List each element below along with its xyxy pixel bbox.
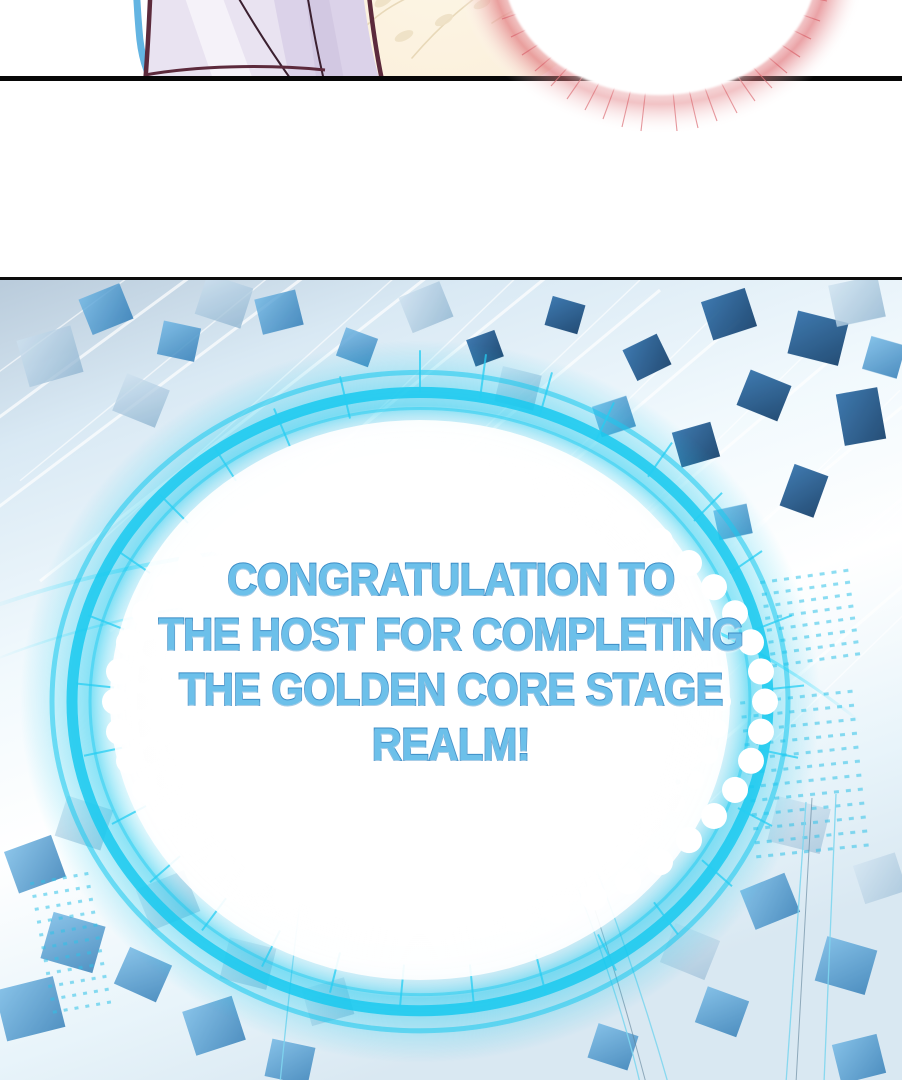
panel-top-character: STUDIED LIKE SOME SCIENCE PROJECT OR RAR… [0, 0, 902, 78]
headline-line-4: REALM! [100, 717, 801, 772]
comic-page: STUDIED LIKE SOME SCIENCE PROJECT OR RAR… [0, 0, 902, 1080]
system-message-headline: CONGRATULATION TO THE HOST FOR COMPLETIN… [100, 552, 801, 772]
character-garment [95, 0, 425, 78]
headline-line-2: THE HOST FOR COMPLETING [100, 607, 801, 662]
speech-bubble: STUDIED LIKE SOME SCIENCE PROJECT OR RAR… [455, 0, 865, 78]
headline-line-3: THE GOLDEN CORE STAGE [100, 662, 801, 717]
panel-system-notification: CONGRATULATION TO THE HOST FOR COMPLETIN… [0, 277, 902, 1080]
headline-line-1: CONGRATULATION TO [100, 552, 801, 607]
panel-gutter [0, 81, 902, 277]
